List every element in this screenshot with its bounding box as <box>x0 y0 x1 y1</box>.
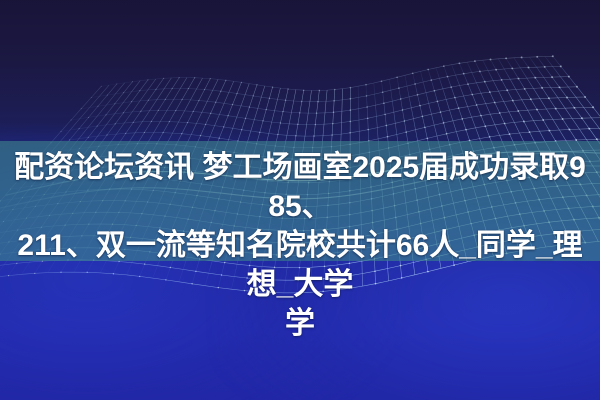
headline-line-3: 学 <box>6 304 594 343</box>
page-title: 配资论坛资讯 梦工场画室2025届成功录取985、 211、双一流等知名院校共计… <box>0 148 600 343</box>
headline-line-2: 211、双一流等知名院校共计66人_同学_理想_大学 <box>6 226 594 304</box>
headline-line-1: 配资论坛资讯 梦工场画室2025届成功录取985、 <box>6 148 594 226</box>
banner-image: 配资论坛资讯 梦工场画室2025届成功录取985、 211、双一流等知名院校共计… <box>0 0 600 400</box>
